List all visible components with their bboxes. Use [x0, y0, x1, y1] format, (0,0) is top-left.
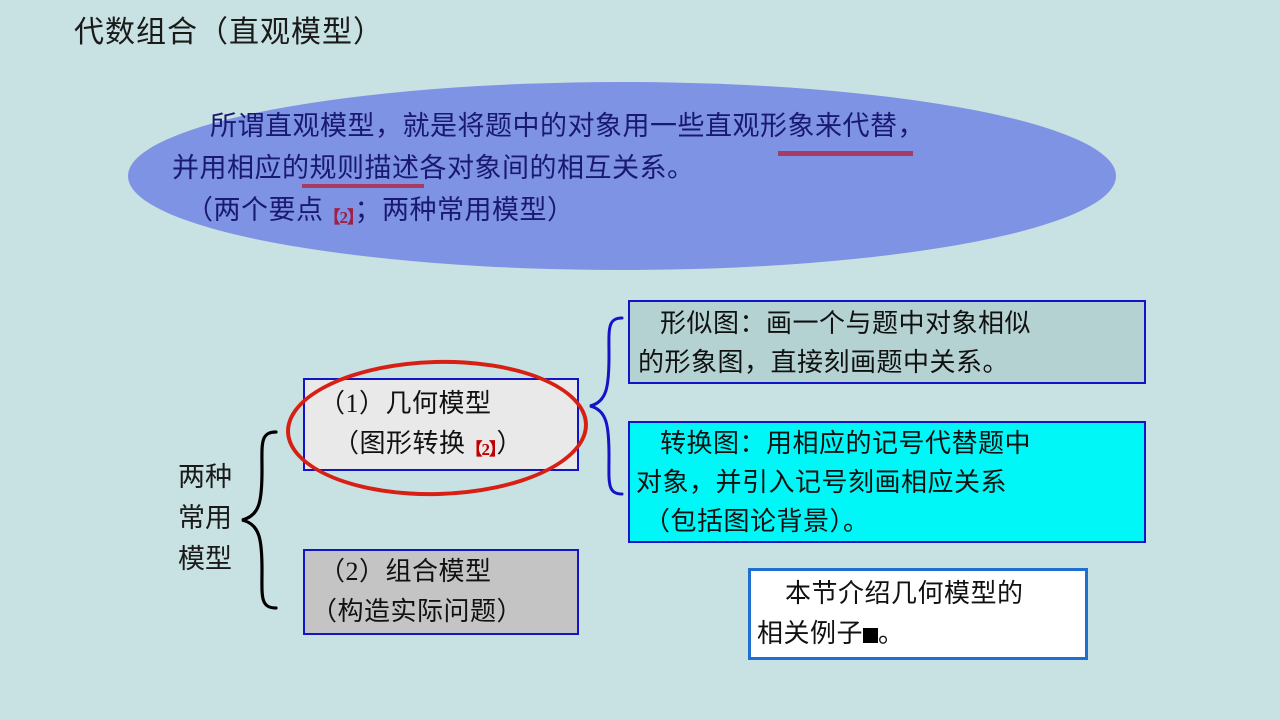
definition-line-2: 并用相应的规则描述各对象间的相互关系。: [172, 147, 1072, 189]
section-note-box[interactable]: 本节介绍几何模型的 相关例子。: [748, 568, 1088, 660]
definition-ellipse-text: 所谓直观模型，就是将题中的对象用一些直观形象来代替， 并用相应的规则描述各对象间…: [172, 105, 1072, 239]
blue-brace-icon: [586, 316, 628, 496]
section-note-line-2: 相关例子。: [751, 614, 1085, 654]
emphasis-underline-rule: [302, 184, 424, 188]
detail-converted-figure-line-1: 转换图：用相应的记号代替题中: [630, 424, 1144, 463]
two-common-models-label-line-1: 两种: [168, 457, 242, 498]
section-note-line-2-before: 相关例子: [757, 619, 863, 648]
detail-converted-figure-line-2: 对象，并引入记号刻画相应关系: [630, 463, 1144, 502]
section-note-line-2-after: 。: [878, 619, 905, 648]
page-title: 代数组合（直观模型）: [74, 14, 384, 52]
two-common-models-label-line-2: 常用: [168, 498, 242, 539]
black-square-icon: [863, 628, 878, 643]
section-note-line-1: 本节介绍几何模型的: [751, 574, 1085, 614]
definition-line-3-before: （两个要点: [186, 195, 324, 225]
two-common-models-label-line-3: 模型: [168, 539, 242, 580]
definition-line-3: （两个要点【2】；两种常用模型）: [172, 189, 1072, 239]
definition-line-3-after: ；两种常用模型）: [355, 195, 575, 225]
two-common-models-label: 两种 常用 模型: [168, 457, 242, 580]
node-combinatorial-model[interactable]: （2）组合模型 （构造实际问题）: [303, 549, 579, 635]
node-combinatorial-model-line-2: （构造实际问题）: [305, 592, 577, 632]
definition-reference-marker: 【2】: [324, 208, 355, 227]
black-brace-icon: [238, 430, 282, 610]
detail-converted-figure[interactable]: 转换图：用相应的记号代替题中 对象，并引入记号刻画相应关系 （包括图论背景）。: [628, 421, 1146, 543]
slide-canvas: 代数组合（直观模型） 所谓直观模型，就是将题中的对象用一些直观形象来代替， 并用…: [0, 0, 1280, 720]
detail-similar-figure-line-1: 形似图：画一个与题中对象相似: [630, 304, 1144, 343]
detail-similar-figure-line-2: 的形象图，直接刻画题中关系。: [630, 343, 1144, 382]
emphasis-underline-upper: [778, 151, 913, 156]
node-combinatorial-model-line-1: （2）组合模型: [305, 552, 577, 592]
detail-similar-figure[interactable]: 形似图：画一个与题中对象相似 的形象图，直接刻画题中关系。: [628, 300, 1146, 384]
detail-converted-figure-line-3: （包括图论背景）。: [630, 502, 1144, 541]
definition-line-1: 所谓直观模型，就是将题中的对象用一些直观形象来代替，: [172, 105, 1072, 147]
